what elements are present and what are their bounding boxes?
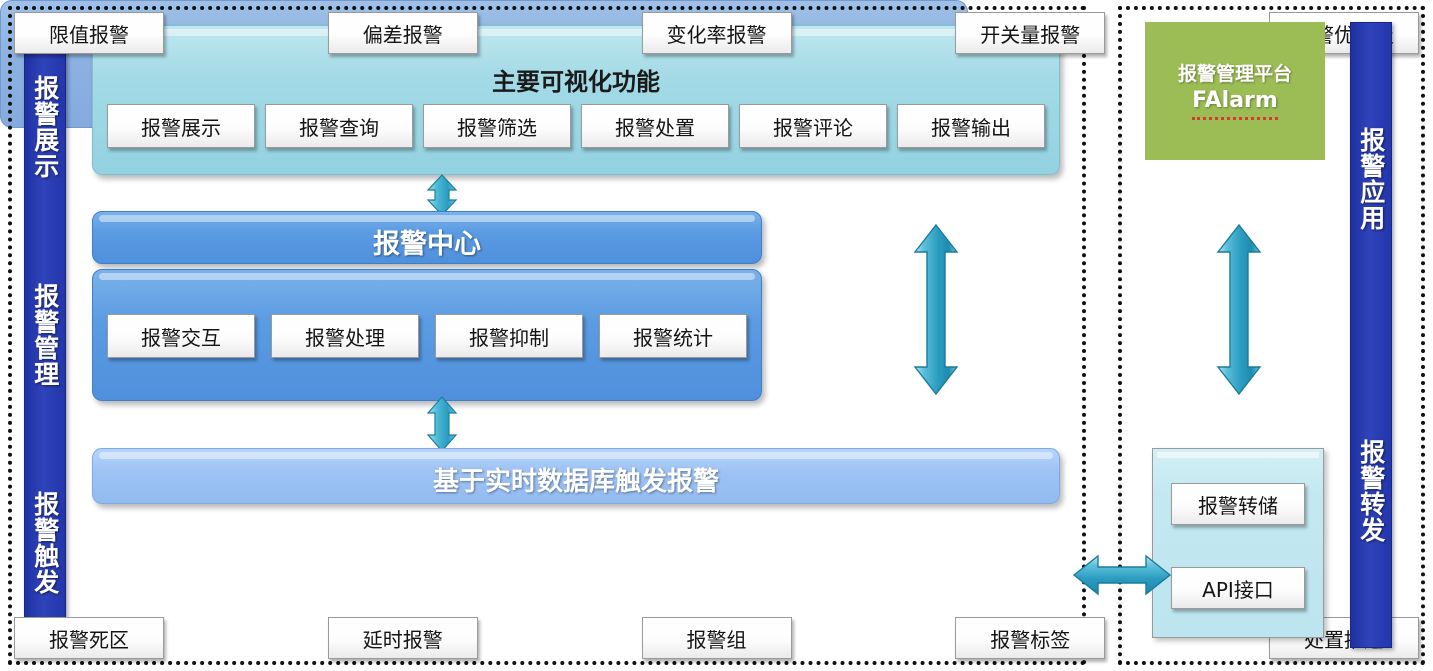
chip-alarm-transfer-storage[interactable]: 报警转储 bbox=[1171, 483, 1305, 525]
chip-alarm-group[interactable]: 报警组 bbox=[642, 617, 792, 659]
chip-deviation-alarm[interactable]: 偏差报警 bbox=[328, 12, 478, 54]
chip-delay-alarm[interactable]: 延时报警 bbox=[328, 617, 478, 659]
double-arrow-vertical-icon bbox=[1208, 222, 1270, 397]
double-arrow-horizontal-icon bbox=[1072, 552, 1172, 598]
alarm-forwarding-box: 报警转储 API接口 bbox=[1152, 448, 1324, 638]
chip-discrete-alarm[interactable]: 开关量报警 bbox=[955, 12, 1105, 54]
sidebar-item-alarm-application[interactable]: 报警应用 bbox=[1358, 127, 1384, 231]
chip-rate-of-change-alarm[interactable]: 变化率报警 bbox=[642, 12, 792, 54]
diagram-canvas: 报警展示 报警管理 报警触发 主要可视化功能 报警展示 报警查询 报警筛选 报警… bbox=[0, 0, 1433, 671]
forwarding-chip-list: 报警转储 API接口 bbox=[1171, 483, 1305, 609]
chip-alarm-deadband[interactable]: 报警死区 bbox=[14, 617, 164, 659]
chip-alarm-tag[interactable]: 报警标签 bbox=[955, 617, 1105, 659]
chip-limit-alarm[interactable]: 限值报警 bbox=[14, 12, 164, 54]
sidebar-item-alarm-forwarding[interactable]: 报警转发 bbox=[1358, 439, 1384, 543]
platform-product-name: FAlarm bbox=[1192, 87, 1278, 120]
chip-api-interface[interactable]: API接口 bbox=[1171, 567, 1305, 609]
double-arrow-vertical-icon bbox=[905, 222, 967, 397]
platform-box: 报警管理平台 FAlarm bbox=[1145, 22, 1325, 160]
trigger-type-grid: 限值报警 偏差报警 变化率报警 开关量报警 报警优先级 报警死区 延时报警 报警… bbox=[0, 0, 968, 128]
platform-title: 报警管理平台 bbox=[1178, 62, 1292, 87]
sidebar-right: 报警应用 报警转发 bbox=[1350, 22, 1392, 648]
